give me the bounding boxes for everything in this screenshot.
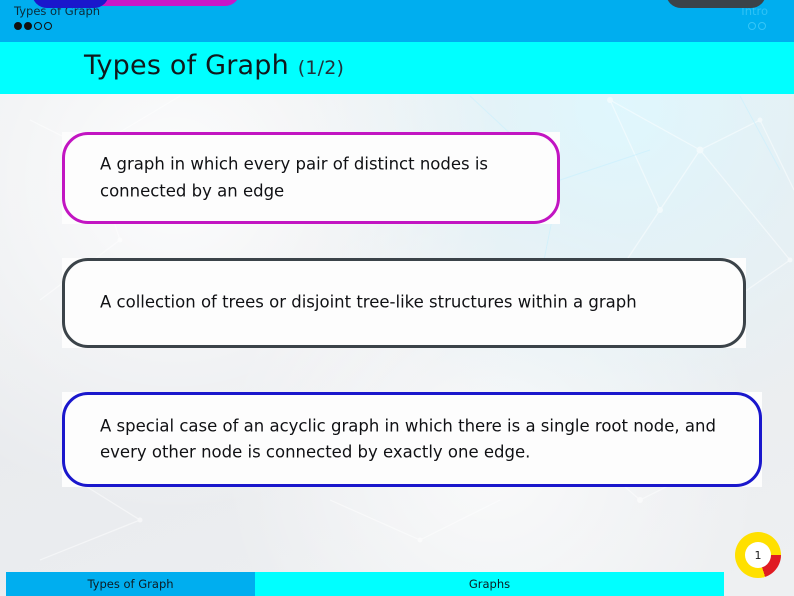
definition-card-tree: A special case of an acyclic graph in wh…	[62, 392, 762, 487]
intro-progress-dot-2-icon[interactable]	[758, 22, 766, 30]
nav-progress-dots-current	[14, 20, 100, 30]
slide-canvas: Types of Graph Intro Types of Graph (1/2…	[0, 0, 794, 596]
definition-card-forest: A collection of trees or disjoint tree-l…	[62, 258, 746, 348]
card-label-tree: Tree	[32, 0, 109, 8]
footer-bar: Types of Graph Graphs	[0, 572, 794, 596]
definition-card-complete-graph: A graph in which every pair of distinct …	[62, 132, 560, 224]
progress-dot-4-icon[interactable]	[44, 22, 52, 30]
card-text-complete-graph: A graph in which every pair of distinct …	[100, 151, 534, 204]
progress-dot-3-icon[interactable]	[34, 22, 42, 30]
page-title: Types of Graph (1/2)	[84, 50, 344, 81]
nav-progress-dots-intro	[741, 20, 768, 30]
page-number-value: 1	[745, 542, 771, 568]
progress-dot-2-icon[interactable]	[24, 22, 32, 30]
page-title-counter: (1/2)	[298, 57, 344, 79]
footer-segment-section[interactable]: Types of Graph	[6, 572, 255, 596]
intro-progress-dot-1-icon[interactable]	[748, 22, 756, 30]
page-number-badge: 1	[735, 532, 781, 578]
card-text-tree: A special case of an acyclic graph in wh…	[100, 413, 736, 466]
progress-dot-1-icon[interactable]	[14, 22, 22, 30]
page-title-main: Types of Graph	[84, 50, 289, 81]
card-text-forest: A collection of trees or disjoint tree-l…	[100, 290, 720, 317]
footer-segment-deck[interactable]: Graphs	[255, 572, 724, 596]
card-label-forest: Forest	[666, 0, 766, 8]
